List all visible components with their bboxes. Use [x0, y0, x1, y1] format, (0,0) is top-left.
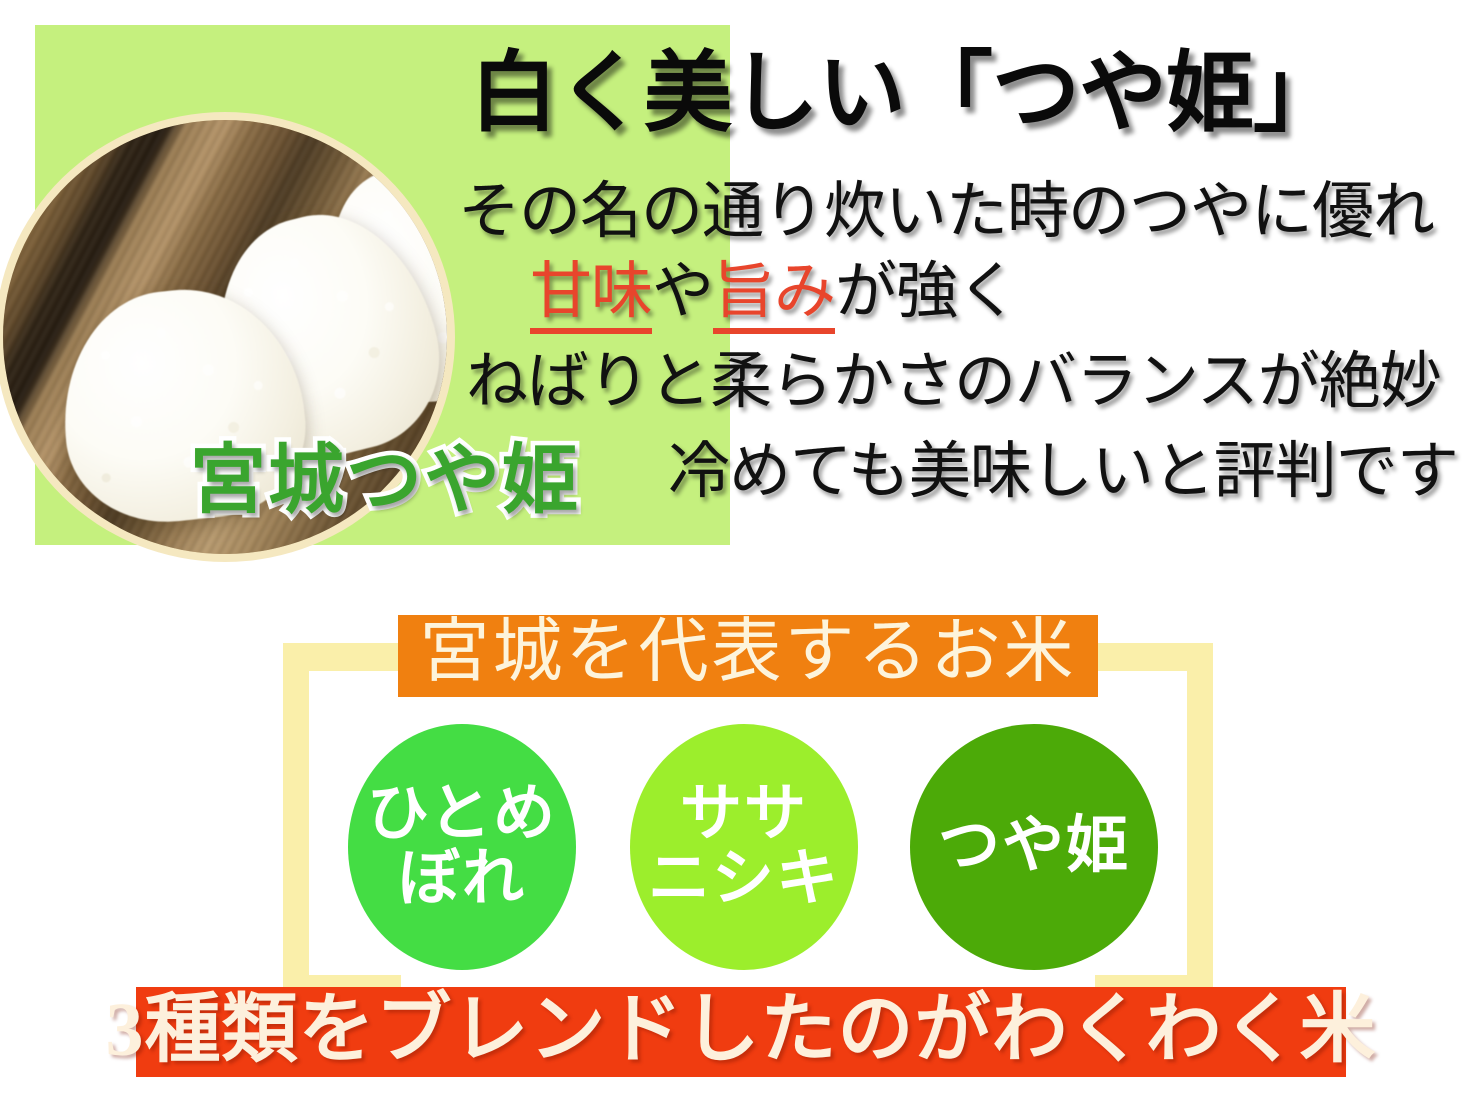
variety-label-sasanishiki-line2: ニシキ — [648, 847, 840, 912]
variety-bubble-sasanishiki[interactable]: ササ ニシキ — [630, 724, 858, 970]
variety-bubble-hitomebore[interactable]: ひとめ ぼれ — [348, 724, 576, 970]
hero-body-line-2: 甘味や旨みが強く — [530, 240, 1018, 330]
highlight-umami: 旨み — [713, 258, 835, 334]
hero-body-line-4: 冷めても美味しいと評判です — [668, 420, 1458, 510]
variety-label-sasanishiki-line1: ササ — [648, 782, 840, 847]
highlight-sweetness: 甘味 — [530, 258, 652, 334]
hero-body-line-2-tail: が強く — [835, 258, 1018, 326]
hero-body-line-3: ねばりと柔らかさのバランスが絶妙 — [466, 330, 1441, 420]
blend-footer-label: 3種類をブレンドしたのがわくわく米 — [106, 992, 1377, 1068]
promo-banner: 白く美しい「つや姫」 その名の通り炊いた時のつやに優れ 甘味や旨みが強く ねばり… — [0, 0, 1478, 1108]
variety-label-hitomebore-line1: ひとめ — [367, 782, 557, 847]
variety-bubble-group: ひとめ ぼれ ササ ニシキ つや姫 — [330, 712, 1170, 972]
varieties-banner-label: 宮城を代表するお米 — [420, 618, 1077, 688]
frame-top-right-segment — [1095, 643, 1213, 671]
frame-top-left-segment — [283, 643, 401, 671]
variety-label-tsuyahime-line1: つや姫 — [938, 814, 1130, 879]
hero-body-line-2-conj: や — [652, 258, 713, 326]
page-title: 白く美しい「つや姫」 — [470, 22, 1340, 149]
hero-body-line-1: その名の通り炊いた時のつやに優れ — [458, 160, 1434, 250]
variety-bubble-tsuyahime[interactable]: つや姫 — [910, 724, 1158, 970]
photo-caption: 宮城つや姫 — [190, 418, 580, 528]
blend-footer-banner: 3種類をブレンドしたのがわくわく米 — [136, 987, 1346, 1077]
variety-label-hitomebore-line2: ぼれ — [367, 847, 557, 912]
varieties-banner: 宮城を代表するお米 — [398, 615, 1098, 697]
